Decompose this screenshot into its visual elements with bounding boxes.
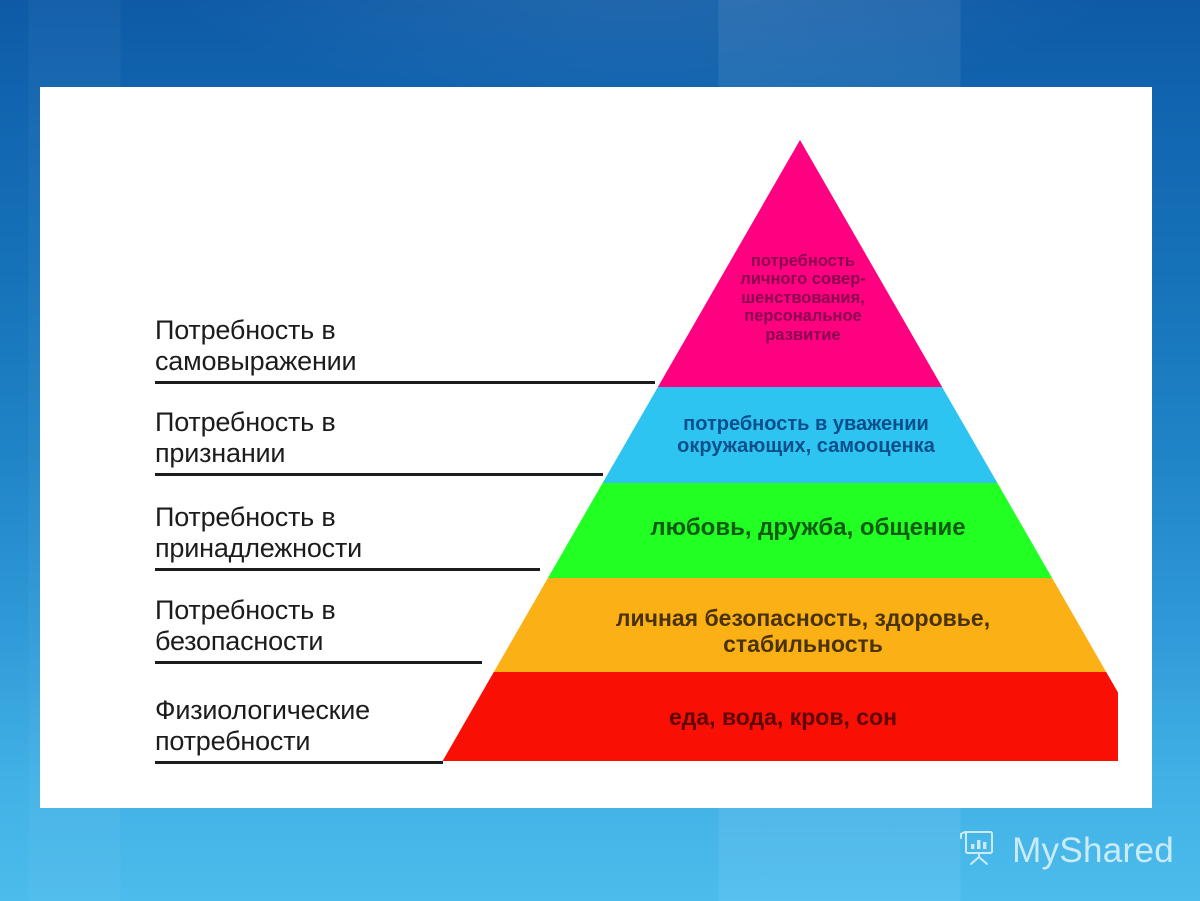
pyramid-tier-self-actualization <box>658 140 942 387</box>
callout-belonging: Потребность в принадлежности <box>155 502 540 571</box>
myshared-watermark: MyShared <box>958 828 1174 873</box>
pyramid-tier-belonging <box>548 483 1052 578</box>
callout-label-belonging: Потребность в принадлежности <box>155 502 540 563</box>
callout-label-physiological: Физиологические потребности <box>155 695 443 756</box>
callout-label-esteem: Потребность в признании <box>155 407 603 468</box>
leader-line-self-actualization <box>155 381 655 384</box>
callout-safety: Потребность в безопасности <box>155 595 482 664</box>
callout-label-self-actualization: Потребность в самовыражении <box>155 315 655 376</box>
presentation-board-icon <box>958 828 1000 873</box>
pyramid-tier-safety <box>494 578 1106 672</box>
pyramid-tier-esteem <box>603 387 998 483</box>
leader-line-esteem <box>155 473 603 476</box>
leader-line-belonging <box>155 568 540 571</box>
callout-self-actualization: Потребность в самовыражении <box>155 315 655 384</box>
callout-esteem: Потребность в признании <box>155 407 603 476</box>
pyramid-tier-physiological <box>443 672 1118 761</box>
callout-label-safety: Потребность в безопасности <box>155 595 482 656</box>
content-panel: потребность личного совер- шенствования,… <box>40 87 1152 808</box>
watermark-text: MyShared <box>1012 831 1174 871</box>
callout-physiological: Физиологические потребности <box>155 695 443 764</box>
leader-line-physiological <box>155 761 443 764</box>
slide-background: потребность личного совер- шенствования,… <box>0 0 1200 901</box>
leader-line-safety <box>155 661 482 664</box>
